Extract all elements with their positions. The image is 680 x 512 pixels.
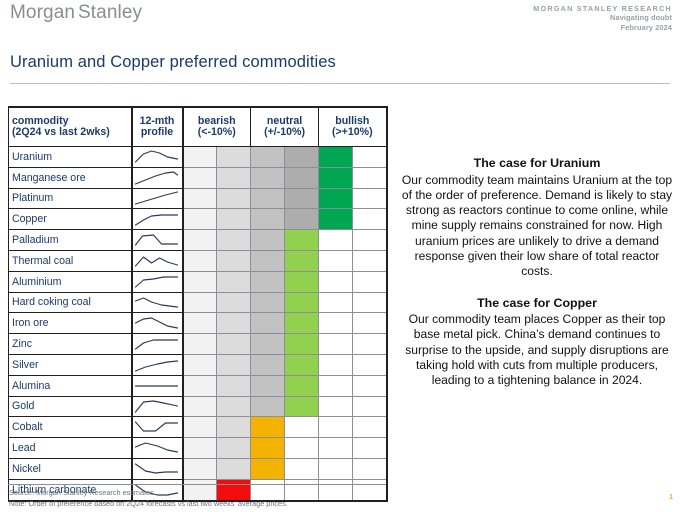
rating-cell — [319, 334, 353, 355]
rating-cell — [183, 438, 217, 459]
commodity-name-cell: Iron ore — [9, 313, 132, 334]
rating-cell — [285, 271, 319, 292]
col-header-bearish: bearish (<-10%) — [183, 107, 251, 147]
report-date: February 2024 — [533, 23, 672, 32]
title-divider — [10, 83, 670, 84]
rating-cell — [353, 230, 387, 251]
brand-word-morgan: Morgan — [10, 2, 75, 23]
rating-cell — [353, 334, 387, 355]
rating-cell — [319, 250, 353, 271]
rating-cell — [217, 188, 251, 209]
rating-cell — [285, 438, 319, 459]
copper-case-body: Our commodity team places Copper as thei… — [398, 312, 676, 388]
rating-cell — [183, 334, 217, 355]
table-row: Uranium — [9, 147, 387, 168]
sparkline-cell — [132, 396, 183, 417]
rating-cell — [285, 354, 319, 375]
rating-cell — [353, 375, 387, 396]
rating-cell — [285, 334, 319, 355]
rating-cell — [251, 396, 285, 417]
rating-cell — [183, 313, 217, 334]
rating-cell — [285, 417, 319, 438]
research-label: MORGAN STANLEY RESEARCH — [533, 4, 672, 13]
rating-cell — [353, 458, 387, 479]
sparkline-cell — [132, 375, 183, 396]
rating-cell — [319, 417, 353, 438]
table-row: Iron ore — [9, 313, 387, 334]
commodity-name-cell: Uranium — [9, 147, 132, 168]
rating-cell — [319, 375, 353, 396]
rating-cell — [217, 271, 251, 292]
commodity-name-cell: Manganese ore — [9, 167, 132, 188]
rating-cell — [319, 230, 353, 251]
rating-cell — [285, 313, 319, 334]
table-row: Alumina — [9, 375, 387, 396]
col-header-neutral-line2: (+/-10%) — [251, 127, 318, 138]
rating-cell — [251, 354, 285, 375]
rating-cell — [319, 354, 353, 375]
sparkline-cell — [132, 188, 183, 209]
footer-divider — [8, 484, 386, 485]
rating-cell — [183, 188, 217, 209]
rating-cell — [319, 313, 353, 334]
rating-cell — [217, 375, 251, 396]
table-row: Hard coking coal — [9, 292, 387, 313]
rating-cell — [353, 209, 387, 230]
rating-cell — [251, 209, 285, 230]
rating-cell — [285, 147, 319, 168]
rating-cell — [353, 417, 387, 438]
method-note: Note: Order of preference based on 2Q24 … — [9, 499, 288, 510]
rating-cell — [353, 354, 387, 375]
col-header-bearish-line2: (<-10%) — [184, 127, 251, 138]
rating-cell — [217, 250, 251, 271]
source-note: Source: Morgan Stanley Research estimate… — [9, 488, 288, 499]
rating-cell — [251, 271, 285, 292]
rating-cell — [217, 458, 251, 479]
page-title: Uranium and Copper preferred commodities — [10, 53, 336, 72]
commodity-name-cell: Palladium — [9, 230, 132, 251]
rating-cell — [183, 396, 217, 417]
commodity-preference-table: commodity (2Q24 vs last 2wks) 12-mth pro… — [8, 106, 386, 502]
rating-cell — [183, 417, 217, 438]
rating-cell — [319, 147, 353, 168]
rating-cell — [251, 313, 285, 334]
rating-cell — [251, 188, 285, 209]
rating-cell — [319, 188, 353, 209]
footnotes: Source: Morgan Stanley Research estimate… — [9, 488, 288, 509]
rating-cell — [285, 209, 319, 230]
rating-cell — [183, 167, 217, 188]
table-row: Nickel — [9, 458, 387, 479]
rating-cell — [217, 167, 251, 188]
table-row: Thermal coal — [9, 250, 387, 271]
rating-cell — [217, 313, 251, 334]
commodity-name-cell: Aluminium — [9, 271, 132, 292]
rating-cell — [251, 250, 285, 271]
rating-cell — [217, 396, 251, 417]
rating-cell — [251, 230, 285, 251]
col-header-bullish-line2: (>+10%) — [319, 127, 386, 138]
commodity-name-cell: Copper — [9, 209, 132, 230]
table-row: Gold — [9, 396, 387, 417]
rating-cell — [285, 458, 319, 479]
rating-cell — [285, 479, 319, 500]
table-row: Platinum — [9, 188, 387, 209]
uranium-case-body: Our commodity team maintains Uranium at … — [398, 173, 676, 280]
sparkline-cell — [132, 250, 183, 271]
report-name: Navigating doubt — [533, 13, 672, 22]
sparkline-cell — [132, 334, 183, 355]
rating-cell — [353, 313, 387, 334]
sparkline-cell — [132, 292, 183, 313]
uranium-case-title: The case for Uranium — [398, 156, 676, 172]
col-header-bullish: bullish (>+10%) — [319, 107, 387, 147]
rating-cell — [217, 230, 251, 251]
table-body: UraniumManganese orePlatinumCopperPallad… — [9, 147, 387, 501]
rating-cell — [319, 438, 353, 459]
commodity-name-cell: Gold — [9, 396, 132, 417]
rating-cell — [183, 147, 217, 168]
table-row: Palladium — [9, 230, 387, 251]
col-header-commodity: commodity (2Q24 vs last 2wks) — [9, 107, 132, 147]
rating-cell — [285, 250, 319, 271]
copper-case-title: The case for Copper — [398, 296, 676, 312]
rating-cell — [353, 396, 387, 417]
rating-cell — [285, 396, 319, 417]
rating-cell — [251, 334, 285, 355]
rating-cell — [285, 375, 319, 396]
commentary-panel: The case for Uranium Our commodity team … — [398, 156, 676, 389]
rating-cell — [217, 354, 251, 375]
commodity-name-cell: Zinc — [9, 334, 132, 355]
rating-cell — [217, 334, 251, 355]
rating-cell — [183, 354, 217, 375]
table-row: Lead — [9, 438, 387, 459]
sparkline-cell — [132, 271, 183, 292]
commodity-name-cell: Alumina — [9, 375, 132, 396]
rating-cell — [217, 292, 251, 313]
commodity-name-cell: Hard coking coal — [9, 292, 132, 313]
col-header-profile-line2: profile — [133, 127, 182, 138]
sparkline-cell — [132, 147, 183, 168]
brand-word-stanley: Stanley — [78, 2, 142, 23]
rating-cell — [251, 375, 285, 396]
col-header-profile: 12-mth profile — [132, 107, 183, 147]
rating-cell — [319, 396, 353, 417]
sparkline-cell — [132, 313, 183, 334]
rating-cell — [285, 230, 319, 251]
rating-cell — [319, 479, 353, 500]
rating-cell — [251, 167, 285, 188]
rating-cell — [353, 167, 387, 188]
rating-cell — [319, 458, 353, 479]
sparkline-cell — [132, 458, 183, 479]
rating-cell — [183, 375, 217, 396]
table-row: Manganese ore — [9, 167, 387, 188]
slide-page: MorganStanley MORGAN STANLEY RESEARCH Na… — [0, 0, 680, 512]
rating-cell — [217, 417, 251, 438]
sparkline-cell — [132, 167, 183, 188]
table-row: Aluminium — [9, 271, 387, 292]
commodity-name-cell: Silver — [9, 354, 132, 375]
rating-cell — [285, 292, 319, 313]
sparkline-cell — [132, 438, 183, 459]
rating-cell — [217, 147, 251, 168]
rating-cell — [251, 292, 285, 313]
rating-cell — [183, 292, 217, 313]
commodity-name-cell: Nickel — [9, 458, 132, 479]
rating-cell — [183, 230, 217, 251]
table-row: Copper — [9, 209, 387, 230]
rating-cell — [319, 271, 353, 292]
rating-cell — [353, 147, 387, 168]
col-header-neutral: neutral (+/-10%) — [251, 107, 319, 147]
rating-cell — [217, 438, 251, 459]
rating-cell — [183, 250, 217, 271]
rating-cell — [183, 209, 217, 230]
header-meta: MORGAN STANLEY RESEARCH Navigating doubt… — [533, 4, 672, 32]
col-header-commodity-line2: (2Q24 vs last 2wks) — [12, 127, 131, 138]
rating-cell — [251, 417, 285, 438]
rating-cell — [353, 438, 387, 459]
table-header-row: commodity (2Q24 vs last 2wks) 12-mth pro… — [9, 107, 387, 147]
rating-cell — [183, 271, 217, 292]
sparkline-cell — [132, 354, 183, 375]
rating-cell — [353, 250, 387, 271]
morgan-stanley-logo: MorganStanley — [10, 2, 142, 24]
rating-cell — [217, 209, 251, 230]
rating-cell — [251, 147, 285, 168]
rating-cell — [353, 292, 387, 313]
sparkline-cell — [132, 417, 183, 438]
table-row: Cobalt — [9, 417, 387, 438]
commodity-name-cell: Cobalt — [9, 417, 132, 438]
page-number: 1 — [669, 494, 673, 501]
commodity-name-cell: Lead — [9, 438, 132, 459]
rating-cell — [183, 458, 217, 479]
sparkline-cell — [132, 209, 183, 230]
sparkline-cell — [132, 230, 183, 251]
rating-cell — [251, 458, 285, 479]
commodity-name-cell: Thermal coal — [9, 250, 132, 271]
rating-cell — [285, 167, 319, 188]
table-row: Silver — [9, 354, 387, 375]
table-row: Zinc — [9, 334, 387, 355]
commodity-name-cell: Platinum — [9, 188, 132, 209]
rating-cell — [285, 188, 319, 209]
rating-cell — [319, 292, 353, 313]
rating-cell — [353, 479, 387, 500]
rating-cell — [251, 438, 285, 459]
rating-cell — [319, 167, 353, 188]
rating-cell — [319, 209, 353, 230]
rating-cell — [353, 271, 387, 292]
rating-cell — [353, 188, 387, 209]
